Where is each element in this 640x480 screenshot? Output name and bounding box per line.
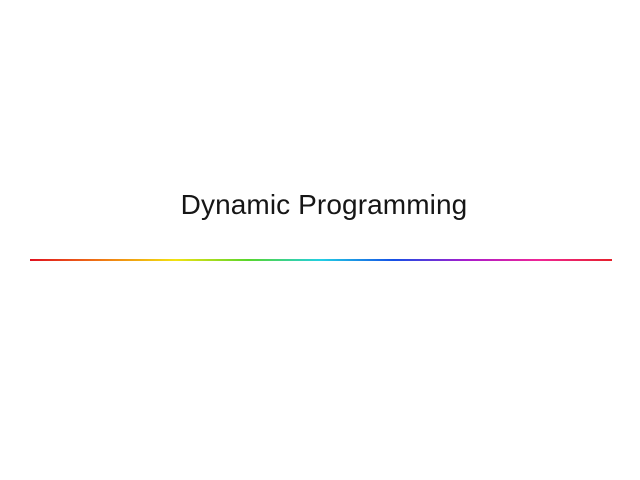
divider-container <box>30 259 612 262</box>
title-block: Dynamic Programming <box>0 0 640 250</box>
rainbow-divider <box>30 259 612 261</box>
page-title: Dynamic Programming <box>173 191 468 231</box>
presentation-slide: Dynamic Programming <box>0 0 640 480</box>
